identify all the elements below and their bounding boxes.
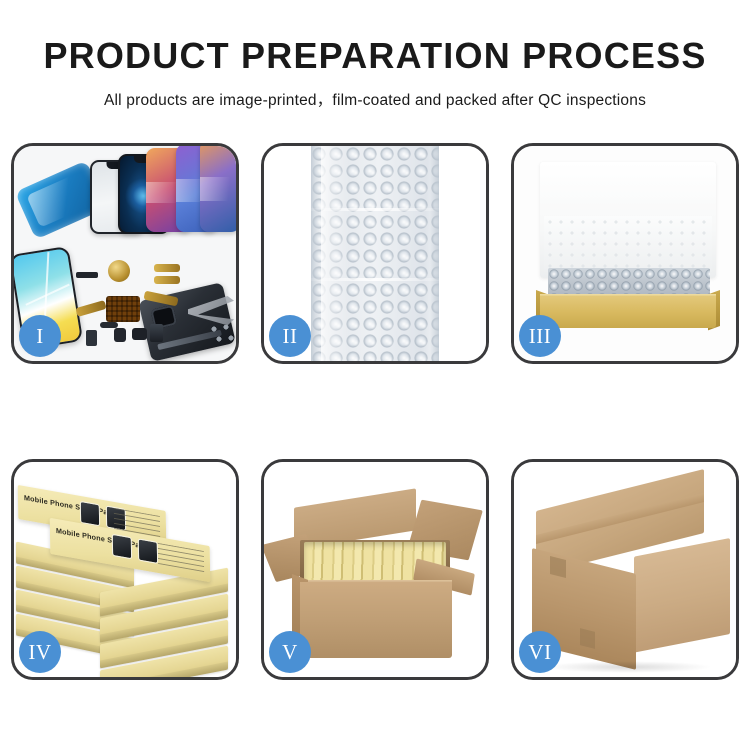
carton-tab-icon: [550, 556, 566, 578]
sealed-carton-side: [634, 538, 730, 653]
sim-tray-part: [86, 330, 97, 346]
box-phone-image: [112, 534, 132, 560]
speaker-module-part: [132, 328, 147, 340]
pouch-seam: [311, 208, 439, 211]
process-step-4[interactable]: Mobile Phone Spare Parts Mobile Phone Sp…: [11, 459, 239, 680]
button-part: [100, 322, 118, 328]
carton-body-front: [300, 582, 452, 658]
process-step-1[interactable]: I: [11, 143, 239, 364]
kraft-box-front: [540, 296, 716, 328]
wallpaper-band-icon: [200, 177, 236, 201]
process-step-2[interactable]: II: [261, 143, 489, 364]
screws-icon: [210, 325, 236, 347]
flex-cable-part: [154, 276, 180, 284]
step-badge-5: V: [269, 631, 311, 673]
phone-display-gradient: [200, 146, 236, 232]
pouch-edge-right: [430, 146, 439, 361]
step-badge-2: II: [269, 315, 311, 357]
page-subtitle: All products are image-printed，film-coat…: [0, 88, 750, 110]
process-step-6[interactable]: VI: [511, 459, 739, 680]
step-badge-3: III: [519, 315, 561, 357]
camera-module-part: [114, 328, 126, 342]
box-phone-image: [80, 501, 100, 527]
box-spec-lines: [158, 543, 204, 573]
carton-tab-icon: [580, 628, 595, 649]
step-badge-4: IV: [19, 631, 61, 673]
battery-part: [150, 324, 163, 342]
box-label-text: Mobile Phone Spare Parts: [24, 493, 118, 519]
bubble-wrap-pouch: [311, 146, 439, 361]
speaker-bar-part: [76, 272, 98, 278]
step-badge-1: I: [19, 315, 61, 357]
connector-grid-part: [106, 296, 140, 322]
page-header: PRODUCT PREPARATION PROCESS All products…: [0, 0, 750, 110]
plastic-gloss-icon: [321, 146, 349, 361]
pouch-edge-left: [311, 146, 320, 361]
process-step-5[interactable]: V: [261, 459, 489, 680]
process-step-grid: I II: [11, 143, 740, 680]
wireless-coil-part: [108, 260, 130, 282]
box-phone-image: [138, 538, 158, 564]
flex-cable-part: [154, 264, 180, 272]
foam-sheet: [544, 216, 712, 272]
carton-shadow: [544, 661, 712, 673]
process-step-3[interactable]: III: [511, 143, 739, 364]
page-title: PRODUCT PREPARATION PROCESS: [0, 36, 750, 76]
pouch-seam: [311, 278, 439, 281]
step-badge-6: VI: [519, 631, 561, 673]
